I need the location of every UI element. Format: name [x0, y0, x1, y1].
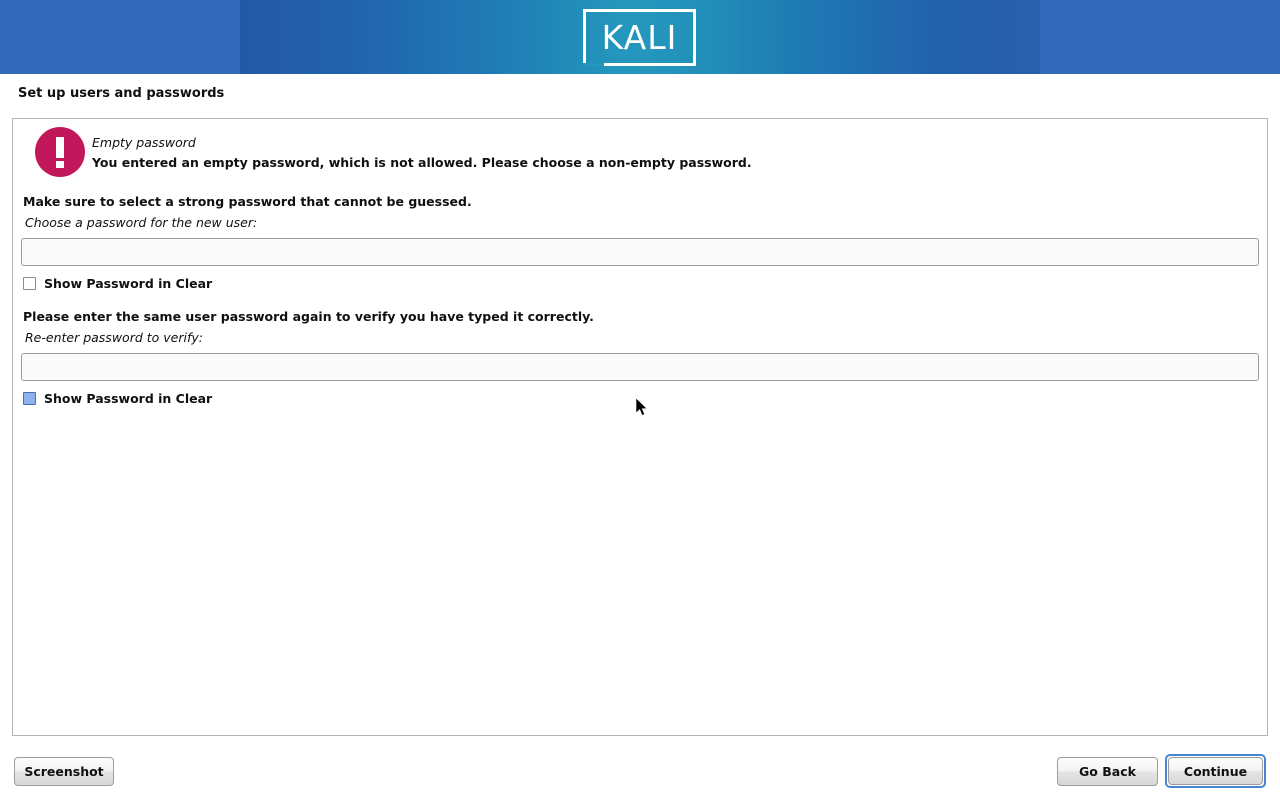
show-password-checkbox-1[interactable]: [23, 277, 36, 290]
error-exclamation-icon: [35, 127, 85, 177]
show-password-checkbox-row-2[interactable]: Show Password in Clear: [23, 391, 212, 406]
kali-logo: KALI: [583, 9, 696, 66]
page-title: Set up users and passwords: [18, 86, 224, 101]
show-password-label-2: Show Password in Clear: [44, 391, 212, 406]
show-password-label-1: Show Password in Clear: [44, 276, 212, 291]
kali-logo-notch-icon: [583, 52, 601, 66]
exclamation-bar: [56, 137, 64, 158]
kali-logo-text: KALI: [583, 20, 696, 53]
verify-password-hint: Please enter the same user password agai…: [23, 309, 594, 324]
continue-button[interactable]: Continue: [1168, 757, 1263, 785]
content-panel: Empty password You entered an empty pass…: [12, 118, 1268, 736]
verify-field-label: Re-enter password to verify:: [25, 330, 203, 345]
password-field-label: Choose a password for the new user:: [25, 215, 257, 230]
exclamation-dot: [56, 161, 64, 168]
kali-banner: KALI: [0, 0, 1280, 74]
error-message-text: You entered an empty password, which is …: [92, 155, 752, 170]
password-input[interactable]: [21, 238, 1259, 266]
go-back-button[interactable]: Go Back: [1057, 757, 1158, 786]
strong-password-hint: Make sure to select a strong password th…: [23, 194, 472, 209]
screenshot-button[interactable]: Screenshot: [14, 757, 114, 786]
verify-password-input[interactable]: [21, 353, 1259, 381]
mouse-arrow-cursor: [636, 398, 648, 417]
continue-button-focus-ring: Continue: [1165, 754, 1266, 788]
show-password-checkbox-row-1[interactable]: Show Password in Clear: [23, 276, 212, 291]
show-password-checkbox-2[interactable]: [23, 392, 36, 405]
error-title: Empty password: [92, 135, 196, 150]
